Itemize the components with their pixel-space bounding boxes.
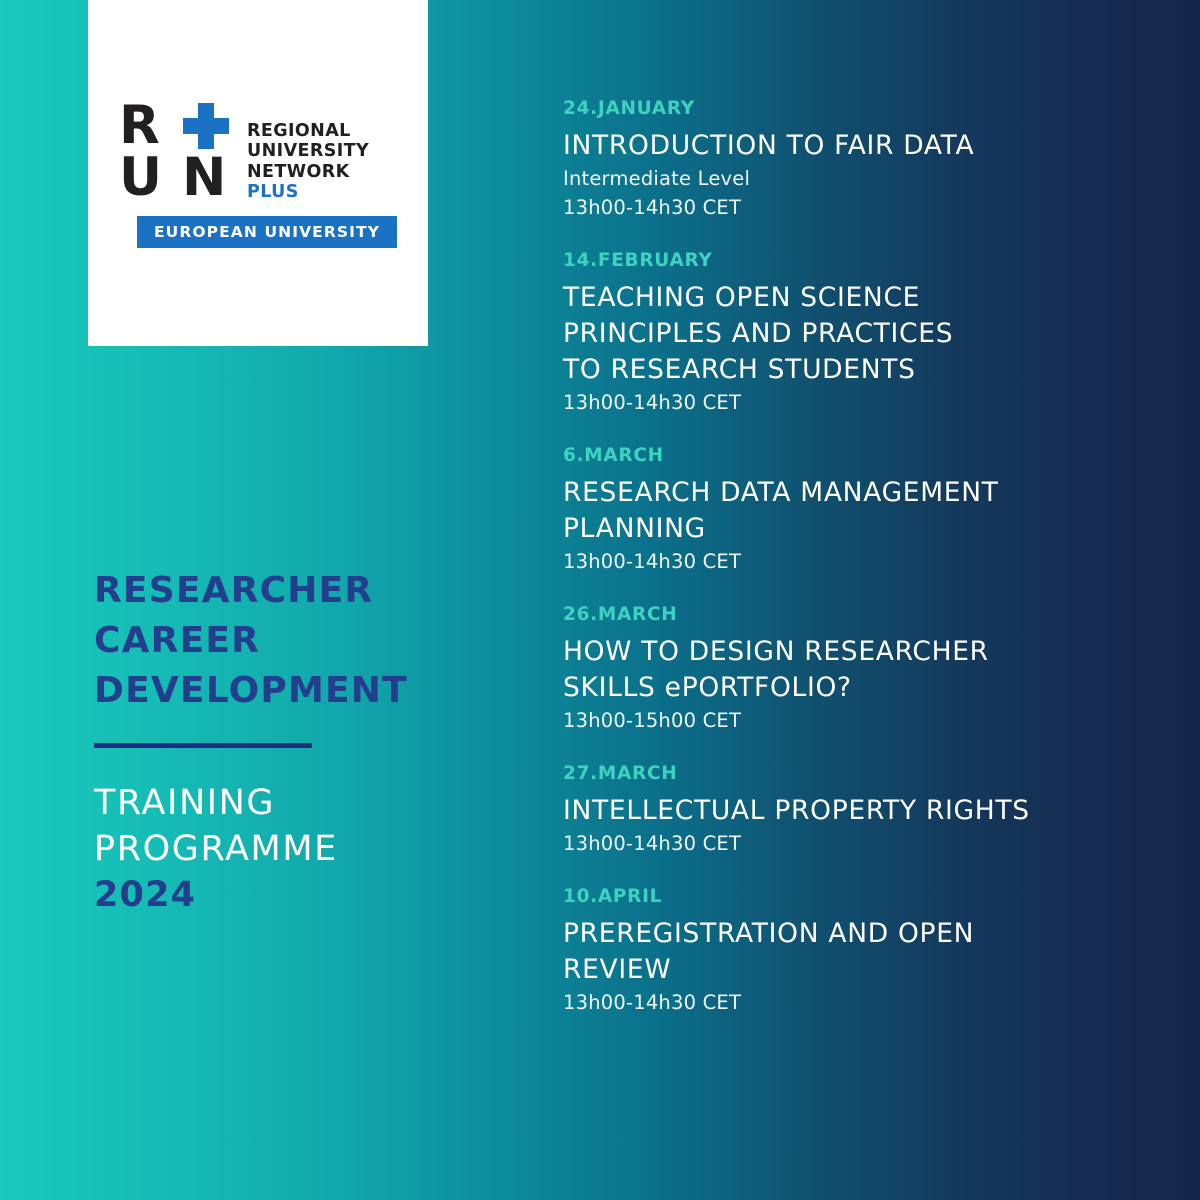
event-date: 14.FEBRUARY (563, 248, 1163, 274)
event-title-line: PREREGISTRATION AND OPEN (563, 916, 1163, 952)
logo-word-university: UNIVERSITY (247, 141, 369, 162)
monogram-letter-u: U (119, 151, 161, 204)
logo-wordmark: REGIONAL UNIVERSITY NETWORK PLUS (237, 99, 369, 203)
list-item: 14.FEBRUARY TEACHING OPEN SCIENCE PRINCI… (563, 248, 1163, 417)
event-title-line: TO RESEARCH STUDENTS (563, 352, 1163, 388)
event-title-line: INTELLECTUAL PROPERTY RIGHTS (563, 793, 1163, 829)
subtitle-line-1: TRAINING (94, 780, 524, 826)
logo-word-network: NETWORK (247, 162, 369, 183)
subtitle-line-2: PROGRAMME (94, 826, 524, 872)
event-time: 13h00-14h30 CET (563, 547, 1163, 576)
title-divider (94, 743, 312, 748)
monogram-letter-r: R (119, 99, 159, 152)
event-title: INTELLECTUAL PROPERTY RIGHTS (563, 793, 1163, 829)
event-title: HOW TO DESIGN RESEARCHER SKILLS ePORTFOL… (563, 634, 1163, 706)
list-item: 26.MARCH HOW TO DESIGN RESEARCHER SKILLS… (563, 602, 1163, 735)
monogram-letter-n: N (182, 151, 225, 204)
list-item: 10.APRIL PREREGISTRATION AND OPEN REVIEW… (563, 884, 1163, 1017)
subtitle: TRAINING PROGRAMME 2024 (94, 780, 524, 918)
poster-root: R U N REGIONAL UNIVERSITY NETWORK PLUS E… (0, 0, 1200, 1200)
event-title-line: RESEARCH DATA MANAGEMENT (563, 475, 1163, 511)
plus-icon (183, 103, 229, 149)
list-item: 27.MARCH INTELLECTUAL PROPERTY RIGHTS 13… (563, 761, 1163, 858)
event-title-line: PLANNING (563, 511, 1163, 547)
event-title-line: HOW TO DESIGN RESEARCHER (563, 634, 1163, 670)
title-line-2: CAREER (94, 616, 524, 666)
event-time: 13h00-14h30 CET (563, 988, 1163, 1017)
list-item: 24.JANUARY INTRODUCTION TO FAIR DATA Int… (563, 96, 1163, 222)
logo-top-row: R U N REGIONAL UNIVERSITY NETWORK PLUS (119, 99, 397, 207)
event-title: INTRODUCTION TO FAIR DATA (563, 128, 1163, 164)
event-title-line: PRINCIPLES AND PRACTICES (563, 316, 1163, 352)
event-date: 26.MARCH (563, 602, 1163, 628)
event-date: 27.MARCH (563, 761, 1163, 787)
title-line-3: DEVELOPMENT (94, 666, 524, 716)
title-line-1: RESEARCHER (94, 566, 524, 616)
subtitle-year: 2024 (94, 872, 524, 918)
event-title-line: SKILLS ePORTFOLIO? (563, 670, 1163, 706)
event-time: 13h00-14h30 CET (563, 193, 1163, 222)
event-title-line: TEACHING OPEN SCIENCE (563, 280, 1163, 316)
event-date: 6.MARCH (563, 443, 1163, 469)
event-title: PREREGISTRATION AND OPEN REVIEW (563, 916, 1163, 988)
event-time: 13h00-14h30 CET (563, 829, 1163, 858)
event-title: RESEARCH DATA MANAGEMENT PLANNING (563, 475, 1163, 547)
event-title-line: REVIEW (563, 952, 1163, 988)
logo-word-plus: PLUS (247, 182, 369, 203)
page-title: RESEARCHER CAREER DEVELOPMENT (94, 566, 524, 716)
event-time: 13h00-14h30 CET (563, 388, 1163, 417)
event-date: 10.APRIL (563, 884, 1163, 910)
logo-card: R U N REGIONAL UNIVERSITY NETWORK PLUS E… (88, 0, 428, 346)
list-item: 6.MARCH RESEARCH DATA MANAGEMENT PLANNIN… (563, 443, 1163, 576)
event-title: TEACHING OPEN SCIENCE PRINCIPLES AND PRA… (563, 280, 1163, 388)
event-time: 13h00-15h00 CET (563, 706, 1163, 735)
event-date: 24.JANUARY (563, 96, 1163, 122)
event-title-line: INTRODUCTION TO FAIR DATA (563, 128, 1163, 164)
schedule-list: 24.JANUARY INTRODUCTION TO FAIR DATA Int… (563, 96, 1163, 1017)
logo-lockup: R U N REGIONAL UNIVERSITY NETWORK PLUS E… (119, 99, 397, 248)
event-level: Intermediate Level (563, 164, 1163, 193)
run-monogram: R U N (119, 99, 237, 207)
logo-band-european-university: EUROPEAN UNIVERSITY (137, 216, 397, 248)
title-block: RESEARCHER CAREER DEVELOPMENT TRAINING P… (94, 566, 524, 918)
logo-word-regional: REGIONAL (247, 121, 369, 142)
